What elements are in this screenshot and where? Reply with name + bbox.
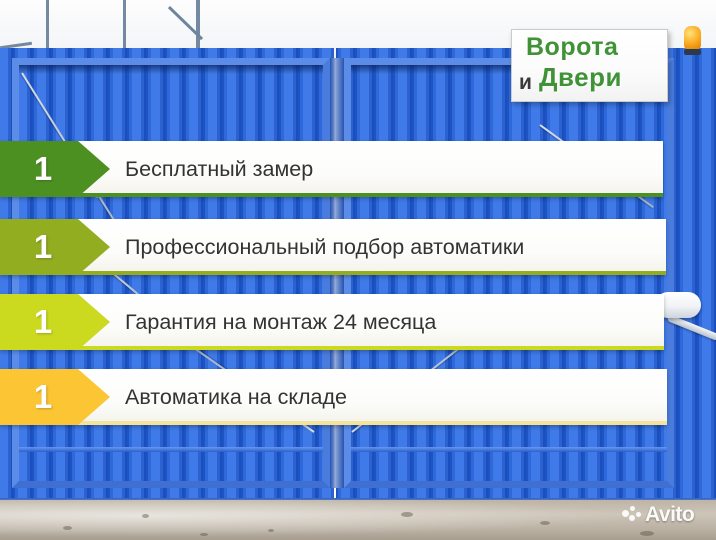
feature-underline-1 [0, 193, 663, 197]
ground-speck [142, 514, 149, 518]
feature-number-2: 1 [0, 219, 86, 275]
feature-label-2: Профессиональный подбор автоматики [125, 219, 524, 275]
feature-label-1: Бесплатный замер [125, 141, 313, 197]
avito-dots-icon [622, 506, 641, 525]
logo-line-dveri: Двери [539, 64, 622, 90]
warning-lamp-base [684, 49, 701, 55]
feature-label-4: Автоматика на складе [125, 369, 347, 425]
ground-speck [640, 531, 654, 536]
feature-label-3: Гарантия на монтаж 24 месяца [125, 294, 436, 350]
warning-lamp-icon [684, 26, 701, 50]
gate-rail-right [351, 447, 667, 452]
avito-wordmark: Avito [645, 503, 694, 527]
fence-post-1 [46, 0, 49, 52]
brand-logo: и Ворота Двери [511, 29, 668, 102]
fence-post-3 [196, 0, 200, 52]
ground-speck [401, 512, 413, 517]
gate-rail-left [19, 447, 323, 452]
gate-top-shadow-left [19, 65, 323, 74]
logo-connector: и [519, 72, 532, 93]
avito-watermark: Avito [622, 503, 694, 527]
feature-number-1: 1 [0, 141, 86, 197]
banner-image: и Ворота Двери 1 Бесплатный замер 1 Проф… [0, 0, 716, 540]
ground-speck [540, 521, 550, 525]
ground-region [0, 500, 716, 540]
feature-number-3: 1 [0, 294, 86, 350]
fence-post-2 [123, 0, 126, 52]
logo-line-vorota: Ворота [526, 35, 618, 60]
ground-speck [268, 529, 274, 532]
ground-speck [200, 533, 208, 536]
ground-speck [63, 526, 72, 530]
feature-number-4: 1 [0, 369, 86, 425]
